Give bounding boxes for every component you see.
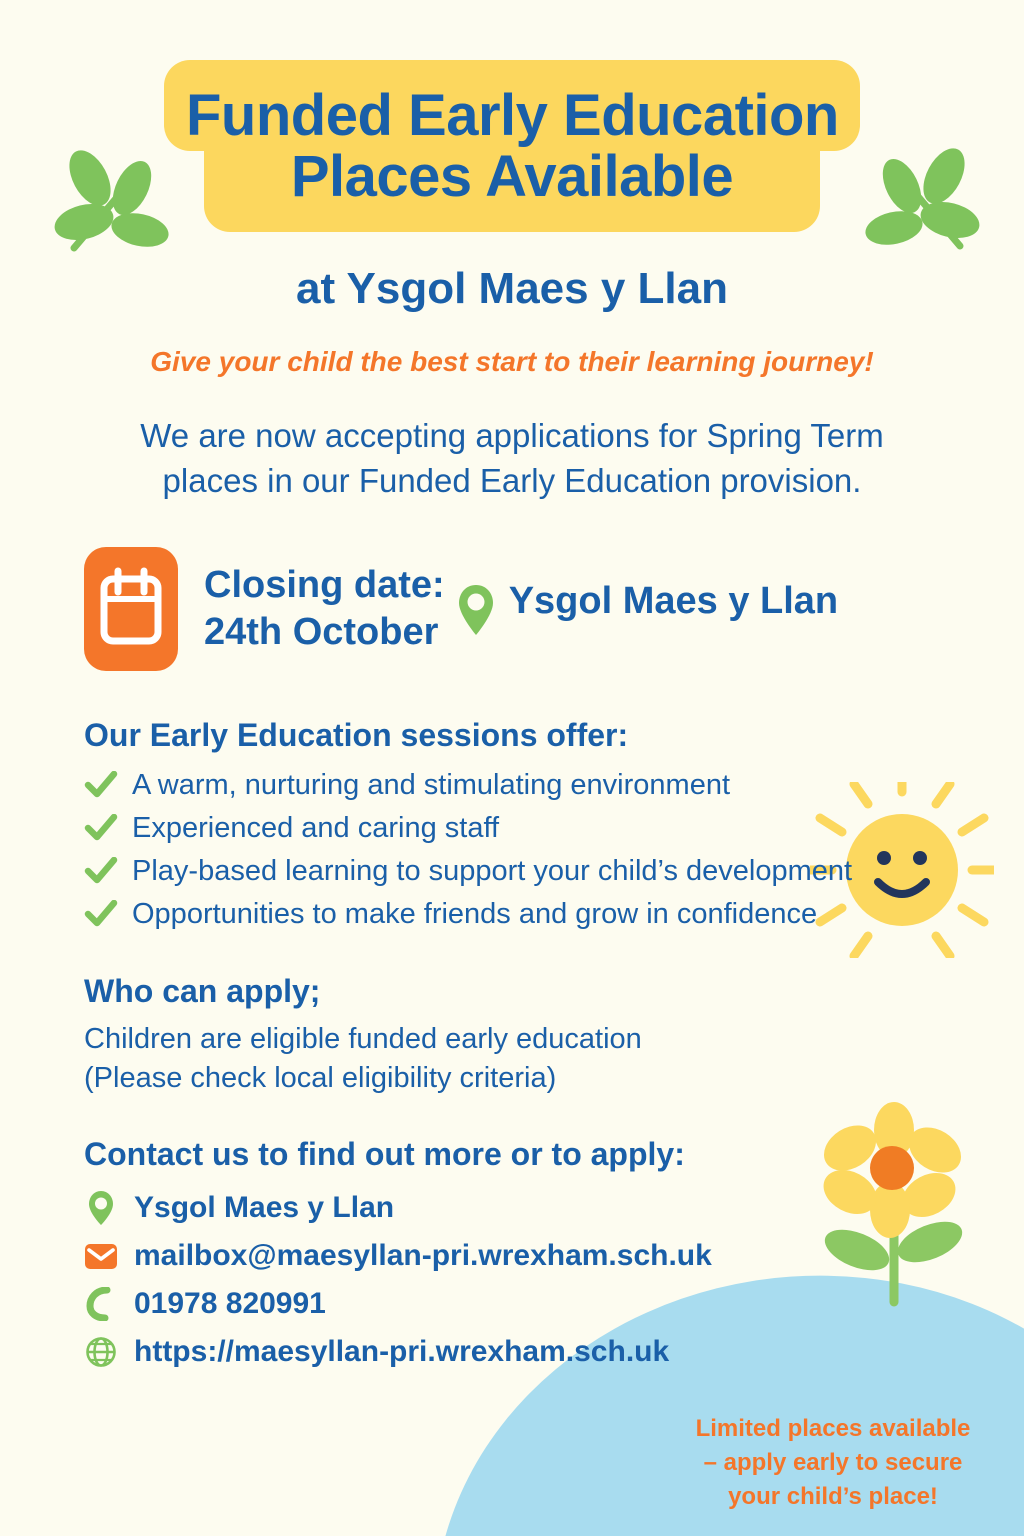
eligibility-heading: Who can apply;: [0, 973, 1024, 1010]
contact-row-website[interactable]: https://maesyllan-pri.wrexham.sch.uk: [84, 1333, 1024, 1371]
list-item: Experienced and caring staff: [84, 813, 1024, 845]
intro-line-1: We are now accepting applications for Sp…: [60, 414, 964, 459]
poster-root: Funded Early Education Places Available …: [0, 0, 1024, 1536]
phone-icon: [84, 1285, 118, 1323]
closing-date-row: Closing date: 24th October Ysgol Maes y …: [0, 547, 1024, 671]
contact-email-value[interactable]: mailbox@maesyllan-pri.wrexham.sch.uk: [134, 1239, 712, 1273]
tagline: Give your child the best start to their …: [0, 346, 1024, 378]
list-item-label: Experienced and caring staff: [132, 813, 499, 845]
offers-heading: Our Early Education sessions offer:: [0, 717, 1024, 754]
eligibility-text: Children are eligible funded early educa…: [0, 1020, 1024, 1098]
list-item-label: Play-based learning to support your chil…: [132, 856, 852, 888]
location-pin-icon: [84, 1189, 118, 1227]
contact-row-email[interactable]: mailbox@maesyllan-pri.wrexham.sch.uk: [84, 1237, 1024, 1275]
limited-line-1: Limited places available: [668, 1412, 998, 1446]
eligibility-line-1: Children are eligible funded early educa…: [84, 1020, 1024, 1059]
contact-address-value: Ysgol Maes y Llan: [134, 1191, 394, 1225]
title-banner: Funded Early Education Places Available: [164, 60, 860, 232]
envelope-icon: [84, 1237, 118, 1275]
check-icon: [84, 900, 118, 930]
contact-row-address: Ysgol Maes y Llan: [84, 1189, 1024, 1227]
limited-line-3: your child’s place!: [668, 1480, 998, 1514]
contact-heading: Contact us to find out more or to apply:: [0, 1136, 1024, 1173]
calendar-icon: [84, 547, 178, 671]
list-item: Opportunities to make friends and grow i…: [84, 899, 1024, 931]
list-item: A warm, nurturing and stimulating enviro…: [84, 770, 1024, 802]
contact-list: Ysgol Maes y Llan mailbox@maesyllan-pri.…: [0, 1189, 1024, 1371]
list-item-label: A warm, nurturing and stimulating enviro…: [132, 770, 730, 802]
offers-list: A warm, nurturing and stimulating enviro…: [0, 770, 1024, 931]
globe-icon: [84, 1333, 118, 1371]
closing-location-text: Ysgol Maes y Llan: [509, 580, 838, 623]
contact-row-phone[interactable]: 01978 820991: [84, 1285, 1024, 1323]
closing-location: Ysgol Maes y Llan: [455, 580, 838, 638]
contact-phone-value[interactable]: 01978 820991: [134, 1287, 326, 1321]
location-pin-icon: [455, 582, 497, 638]
closing-date-value: 24th October: [204, 609, 445, 657]
limited-line-2: – apply early to secure: [668, 1446, 998, 1480]
check-icon: [84, 857, 118, 887]
check-icon: [84, 814, 118, 844]
limited-places-note: Limited places available – apply early t…: [668, 1412, 998, 1514]
closing-date-label: Closing date:: [204, 562, 445, 610]
intro-text: We are now accepting applications for Sp…: [0, 414, 1024, 503]
list-item: Play-based learning to support your chil…: [84, 856, 1024, 888]
closing-date-text: Closing date: 24th October: [204, 562, 445, 657]
check-icon: [84, 771, 118, 801]
header-section: Funded Early Education Places Available: [0, 0, 1024, 232]
intro-line-2: places in our Funded Early Education pro…: [60, 459, 964, 504]
eligibility-line-2: (Please check local eligibility criteria…: [84, 1059, 1024, 1098]
title-banner-bottom: Places Available: [204, 147, 820, 232]
school-subtitle: at Ysgol Maes y Llan: [0, 264, 1024, 314]
title-banner-top: Funded Early Education: [164, 60, 860, 151]
contact-website-value[interactable]: https://maesyllan-pri.wrexham.sch.uk: [134, 1335, 669, 1369]
title-line-2: Places Available: [224, 147, 800, 206]
title-line-1: Funded Early Education: [186, 86, 838, 145]
list-item-label: Opportunities to make friends and grow i…: [132, 899, 817, 931]
